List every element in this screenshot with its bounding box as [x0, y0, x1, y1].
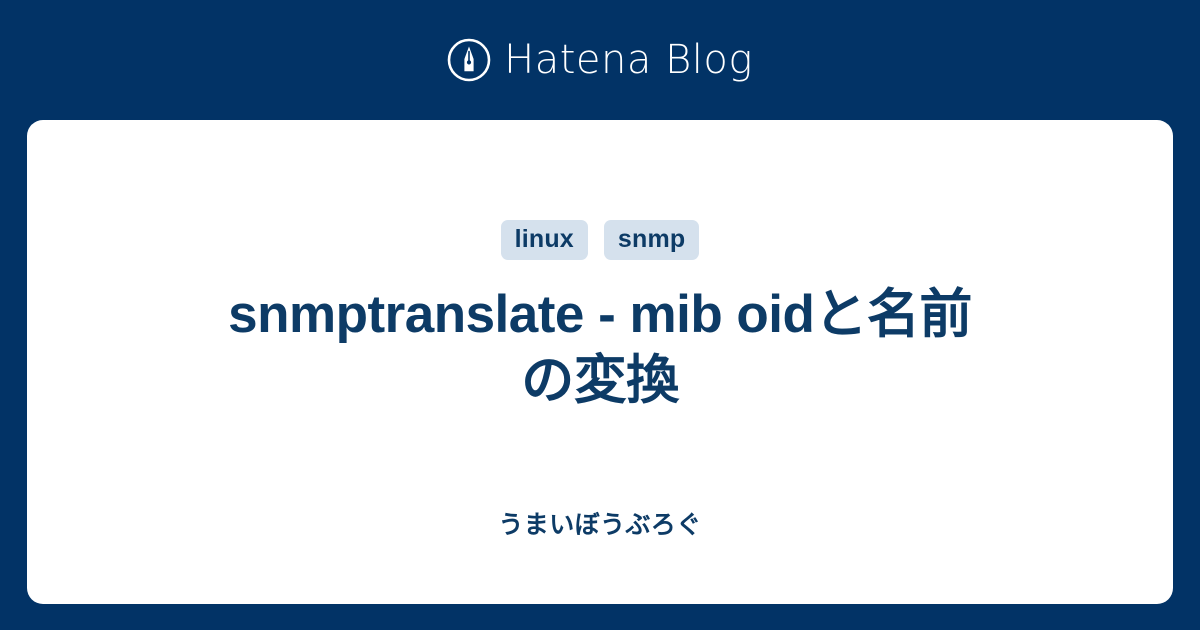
blog-name: うまいぼうぶろぐ [27, 510, 1173, 540]
brand-wordmark: Hatena Blog [504, 40, 753, 80]
brand-header: Hatena Blog [0, 0, 1200, 120]
entry-card: linux snmp snmptranslate - mib oidと名前の変換… [27, 120, 1173, 604]
tag-chip-snmp[interactable]: snmp [604, 220, 699, 260]
tag-chip-linux[interactable]: linux [501, 220, 588, 260]
entry-title: snmptranslate - mib oidと名前の変換 [220, 282, 980, 413]
pen-nib-in-circle-icon [447, 38, 491, 82]
tag-list: linux snmp [501, 220, 700, 260]
ogp-card-canvas: Hatena Blog linux snmp snmptranslate - m… [0, 0, 1200, 630]
